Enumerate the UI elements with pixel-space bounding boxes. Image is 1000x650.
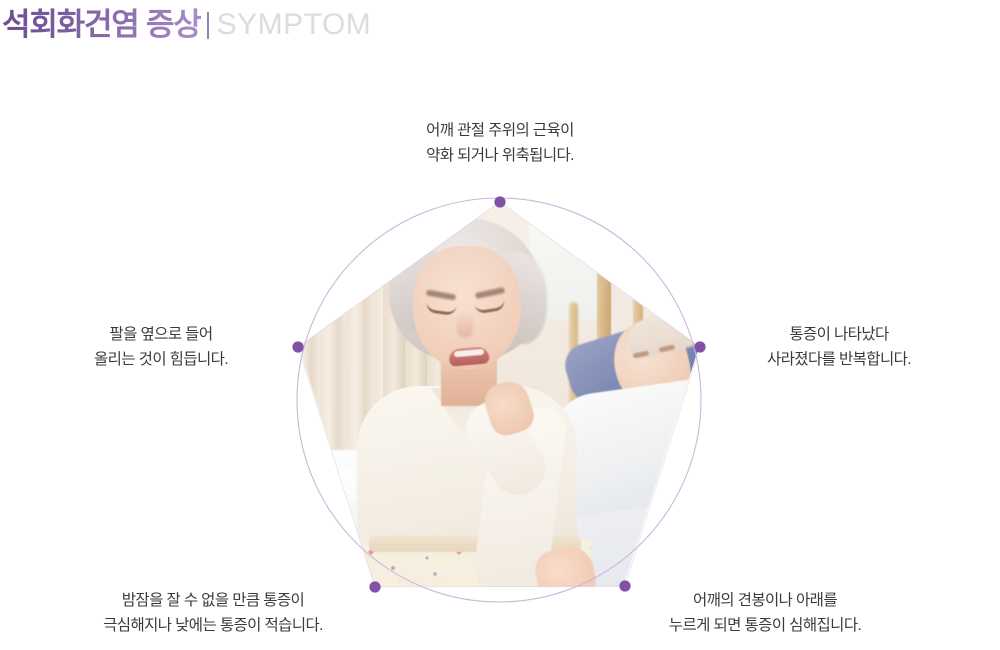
symptom-label-top-line2: 약화 되거나 위축됩니다. [375, 143, 625, 168]
symptom-infographic-page: 석회화건염 증상 SYMPTOM [0, 0, 1000, 650]
vertex-dot-bottom-left[interactable] [369, 581, 380, 592]
vertex-dot-top[interactable] [494, 196, 505, 207]
vertex-dot-bottom-right[interactable] [619, 580, 630, 591]
vertex-dot-left[interactable] [292, 341, 303, 352]
symptom-label-left-line1: 팔을 옆으로 들어 [58, 322, 264, 347]
symptom-label-right: 통증이 나타났다 사라졌다를 반복합니다. [736, 322, 942, 372]
symptom-label-right-line2: 사라졌다를 반복합니다. [736, 347, 942, 372]
vertex-dot-right[interactable] [694, 341, 705, 352]
pentagon-outline [298, 202, 700, 587]
symptom-label-bottom-right-line2: 누르게 되면 통증이 심해집니다. [632, 613, 898, 638]
symptom-label-left: 팔을 옆으로 들어 올리는 것이 힘듭니다. [58, 322, 264, 372]
symptom-label-bottom-left-line1: 밤잠을 잘 수 없을 만큼 통증이 [60, 588, 366, 613]
symptom-label-top: 어깨 관절 주위의 근육이 약화 되거나 위축됩니다. [375, 118, 625, 168]
symptom-label-bottom-right: 어깨의 견봉이나 아래를 누르게 되면 통증이 심해집니다. [632, 588, 898, 638]
symptom-label-right-line1: 통증이 나타났다 [736, 322, 942, 347]
symptom-label-top-line1: 어깨 관절 주위의 근육이 [375, 118, 625, 143]
symptom-label-bottom-left: 밤잠을 잘 수 없을 만큼 통증이 극심해지나 낮에는 통증이 적습니다. [60, 588, 366, 638]
symptom-label-bottom-right-line1: 어깨의 견봉이나 아래를 [632, 588, 898, 613]
symptom-label-bottom-left-line2: 극심해지나 낮에는 통증이 적습니다. [60, 613, 366, 638]
outer-circle [297, 198, 701, 602]
symptom-label-left-line2: 올리는 것이 힘듭니다. [58, 347, 264, 372]
